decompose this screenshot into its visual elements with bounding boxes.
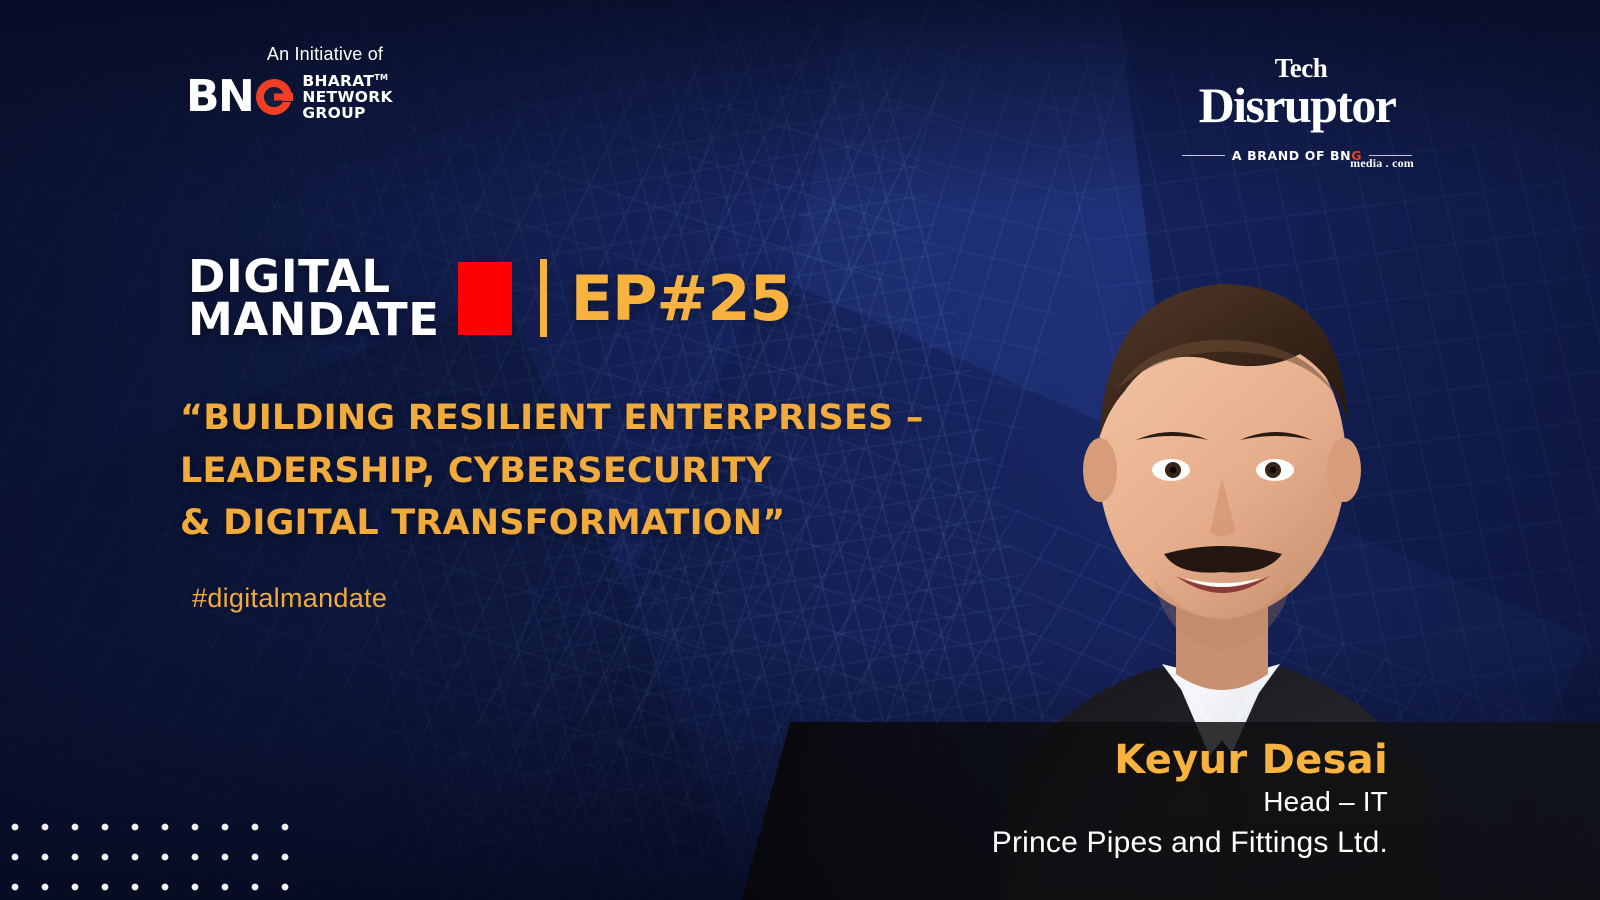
bng-word-group: GROUP [302, 106, 392, 122]
series-title-row: DIGITAL MANDATE EP#25 [188, 255, 792, 341]
quote-line-3: & DIGITAL TRANSFORMATION” [180, 497, 1010, 550]
promo-poster: An Initiative of BN BHARATTM NETWORK GRO… [0, 0, 1600, 900]
tech-disruptor-media-dotcom: media . com [1350, 156, 1414, 171]
speaker-name: Keyur Desai [488, 738, 1388, 782]
tech-disruptor-disruptor: Disruptor [1182, 82, 1412, 128]
initiative-label-wrap: An Initiative of [205, 44, 445, 65]
brand-of-text: A BRAND OF BNG [1232, 148, 1362, 163]
series-title: DIGITAL MANDATE [188, 255, 440, 341]
episode-number: EP#25 [571, 262, 792, 335]
bng-logo: BN BHARATTM NETWORK GROUP [186, 72, 393, 122]
speaker-role: Head – IT [488, 782, 1388, 823]
initiative-label: An Initiative of [205, 44, 445, 65]
rule-left [1182, 155, 1225, 156]
gold-vertical-divider [540, 259, 547, 337]
quote-line-1: “BUILDING RESILIENT ENTERPRISES – [180, 392, 1010, 445]
episode-topic-quote: “BUILDING RESILIENT ENTERPRISES – LEADER… [180, 392, 1010, 550]
red-accent-block [458, 262, 512, 335]
speaker-info: Keyur Desai Head – IT Prince Pipes and F… [488, 738, 1388, 863]
series-title-line1: DIGITAL [188, 255, 440, 298]
bng-g-icon [254, 77, 294, 117]
hashtag: #digitalmandate [192, 583, 387, 614]
series-title-line2: MANDATE [188, 298, 440, 341]
bng-letters-bn: BN [186, 75, 253, 119]
tech-disruptor-logo: Tech Disruptor media . com A BRAND OF BN… [1182, 56, 1412, 163]
bng-wordmark: BHARATTM NETWORK GROUP [302, 72, 392, 122]
trademark-icon: TM [374, 73, 388, 82]
quote-line-2: LEADERSHIP, CYBERSECURITY [180, 445, 1010, 498]
speaker-company: Prince Pipes and Fittings Ltd. [488, 823, 1388, 864]
bng-logomark: BN [186, 75, 294, 119]
